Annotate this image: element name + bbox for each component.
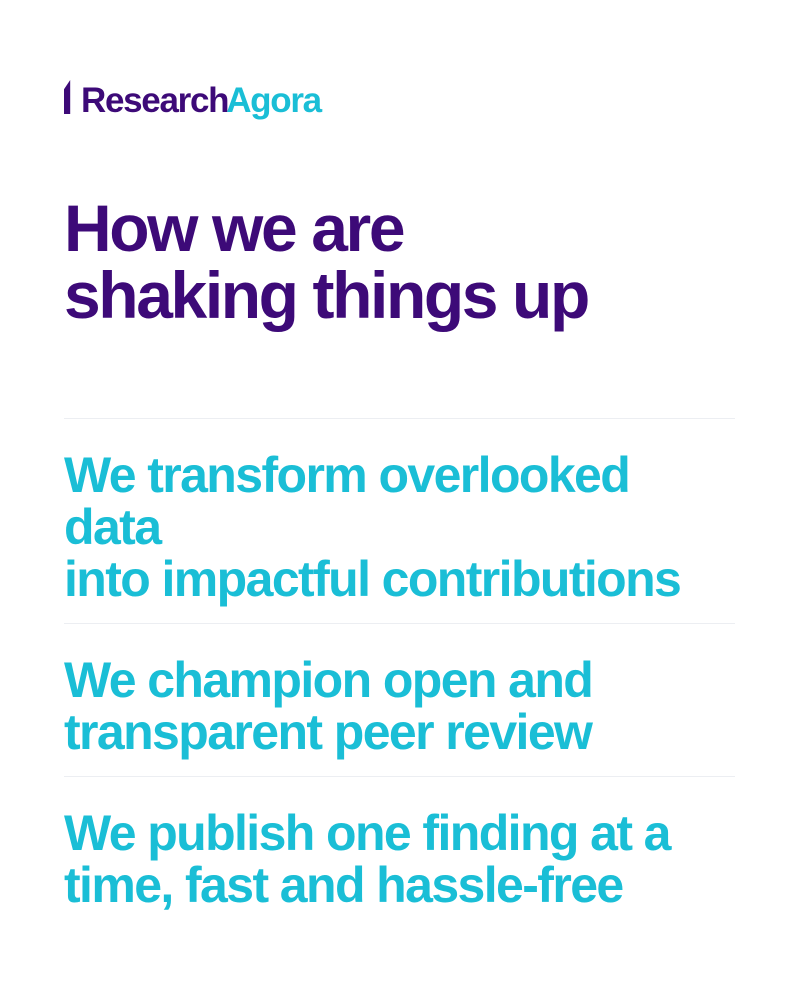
list-item: We champion open and transparent peer re…	[64, 623, 735, 776]
brand-logo[interactable]: ResearchAgora	[64, 78, 321, 118]
statement-text-2: We champion open and transparent peer re…	[64, 654, 735, 758]
statement-3-line-2: time, fast and hassle-free	[64, 859, 735, 911]
statement-1-line-1: We transform overlooked data	[64, 449, 735, 553]
slide-canvas: ResearchAgora How we are shaking things …	[0, 0, 800, 1000]
statement-2-line-2: transparent peer review	[64, 706, 735, 758]
page-title-line-2: shaking things up	[64, 262, 744, 329]
list-item: We transform overlooked data into impact…	[64, 418, 735, 623]
statement-3-line-1: We publish one finding at a	[64, 807, 735, 859]
list-item: We publish one finding at a time, fast a…	[64, 776, 735, 929]
statement-text-3: We publish one finding at a time, fast a…	[64, 807, 735, 911]
page-title-line-1: How we are	[64, 195, 744, 262]
brand-word-research: Research	[81, 83, 228, 118]
statement-text-1: We transform overlooked data into impact…	[64, 449, 735, 605]
researchagora-r-mark-icon	[64, 80, 83, 114]
statement-1-line-2: into impactful contributions	[64, 553, 735, 605]
brand-word-agora: Agora	[226, 83, 321, 118]
page-title: How we are shaking things up	[64, 195, 744, 329]
statement-2-line-1: We champion open and	[64, 654, 735, 706]
statement-list: We transform overlooked data into impact…	[64, 418, 735, 929]
